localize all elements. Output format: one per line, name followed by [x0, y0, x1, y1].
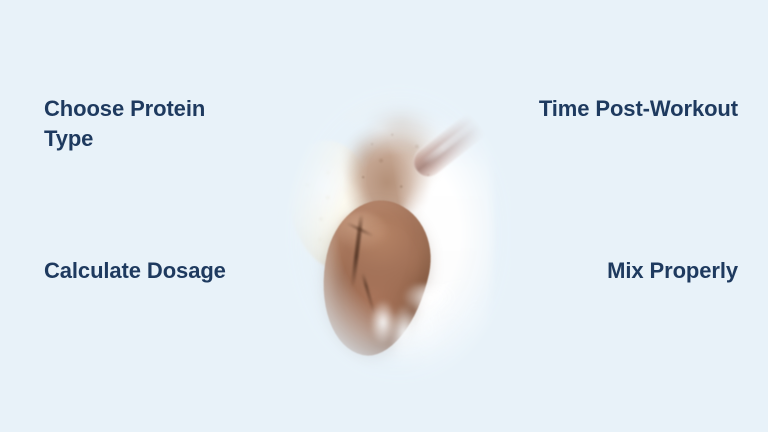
protein-powder-infographic: Choose Protein Type Time Post-Workout Ca… — [0, 0, 768, 432]
protein-powder-scoops-photo — [293, 88, 497, 378]
white-powder-fluffy-base — [371, 284, 491, 380]
step-label-mix-properly: Mix Properly — [498, 256, 738, 286]
step-label-choose-protein-type: Choose Protein Type — [44, 94, 274, 154]
step-label-calculate-dosage: Calculate Dosage — [44, 256, 284, 286]
